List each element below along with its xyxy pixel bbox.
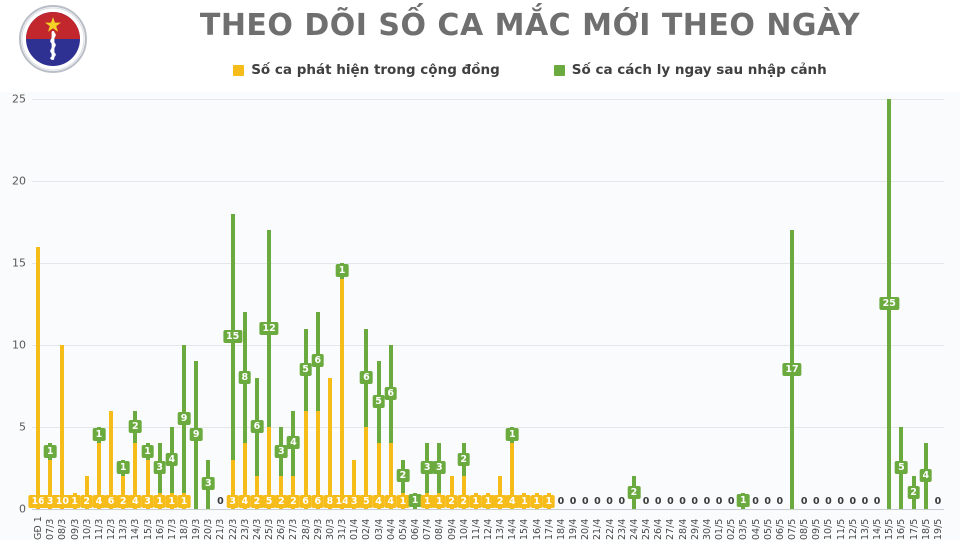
x-axis-tick: 24/3 — [252, 510, 263, 540]
x-axis-tick: 22/3 — [228, 510, 239, 540]
x-axis-tick: 18/4 — [556, 510, 567, 540]
x-axis-tick: 15/4 — [519, 510, 530, 540]
x-axis-tick: 11/3 — [94, 510, 105, 540]
x-axis-tick: 21/3 — [215, 510, 226, 540]
x-axis-tick: 15/5 — [884, 510, 895, 540]
x-axis-tick: 29/3 — [313, 510, 324, 540]
x-axis-tick: 08/4 — [434, 510, 445, 540]
x-axis-tick: 05/4 — [398, 510, 409, 540]
x-axis-tick: 30/3 — [325, 510, 336, 540]
x-axis-tick: 19/3 — [191, 510, 202, 540]
x-axis-tick: 01/4 — [349, 510, 360, 540]
x-axis-tick: 07/5 — [787, 510, 798, 540]
x-axis-tick: 29/4 — [690, 510, 701, 540]
x-axis-tick: 07/3 — [45, 510, 56, 540]
y-axis-tick-25: 25 — [12, 93, 26, 106]
x-axis-tick: 25/3 — [264, 510, 275, 540]
x-axis-tick: 12/4 — [483, 510, 494, 540]
x-axis-tick: 24/4 — [629, 510, 640, 540]
x-axis-tick: 23/4 — [617, 510, 628, 540]
x-axis-tick: 02/5 — [726, 510, 737, 540]
x-axis-tick: 03/4 — [374, 510, 385, 540]
x-axis-tick: GĐ 1 — [33, 510, 44, 540]
x-axis-tick: 04/5 — [751, 510, 762, 540]
x-axis-tick: 21/4 — [592, 510, 603, 540]
page-title: THEO DÕI SỐ CA MẮC MỚI THEO NGÀY — [120, 8, 940, 43]
x-axis-tick: 10/5 — [823, 510, 834, 540]
x-axis-tick: 28/3 — [301, 510, 312, 540]
chart-page: THEO DÕI SỐ CA MẮC MỚI THEO NGÀY Số ca p… — [0, 0, 960, 540]
x-axis-tick: 09/4 — [447, 510, 458, 540]
x-axis-tick: 02/4 — [361, 510, 372, 540]
x-axis-tick: 25/4 — [641, 510, 652, 540]
x-axis-tick: 31/3 — [337, 510, 348, 540]
x-axis-tick: 07/4 — [422, 510, 433, 540]
x-axis-tick: 17/5 — [909, 510, 920, 540]
y-axis-tick-5: 5 — [19, 421, 26, 434]
legend-item-community[interactable]: Số ca phát hiện trong cộng đồng — [233, 62, 500, 78]
chart-plot-area: 0510152025 16131012146122413314191930153… — [0, 92, 960, 540]
x-axis-tick: 26/3 — [276, 510, 287, 540]
legend-item-quarantine[interactable]: Số ca cách ly ngay sau nhập cảnh — [554, 62, 827, 78]
x-axis-tick: 09/3 — [70, 510, 81, 540]
y-axis-tick-0: 0 — [19, 503, 26, 516]
x-axis-tick: 12/3 — [106, 510, 117, 540]
y-axis: 0510152025 — [0, 92, 30, 540]
x-axis-tick: 16/5 — [896, 510, 907, 540]
x-axis-tick: 06/5 — [775, 510, 786, 540]
x-axis-tick: 11/5 — [836, 510, 847, 540]
x-axis-tick: 13/4 — [495, 510, 506, 540]
ministry-of-health-logo — [18, 4, 88, 74]
x-axis-tick: 19/4 — [568, 510, 579, 540]
x-axis-tick: 20/3 — [203, 510, 214, 540]
x-axis: GĐ 107/308/309/310/311/312/313/314/315/3… — [32, 92, 944, 540]
x-axis-tick: 12/5 — [848, 510, 859, 540]
x-axis-tick: 08/5 — [799, 510, 810, 540]
x-axis-tick: 13/5 — [860, 510, 871, 540]
x-axis-tick: 16/3 — [155, 510, 166, 540]
legend-swatch-quarantine — [554, 65, 565, 76]
x-axis-tick: 15/3 — [143, 510, 154, 540]
x-axis-tick: 18/3 — [179, 510, 190, 540]
x-axis-tick: 14/4 — [507, 510, 518, 540]
x-axis-tick: 23/3 — [240, 510, 251, 540]
x-axis-tick: 22/4 — [605, 510, 616, 540]
x-axis-tick: 13/3 — [118, 510, 129, 540]
x-axis-tick: 06/4 — [410, 510, 421, 540]
x-axis-tick: 04/4 — [386, 510, 397, 540]
x-axis-tick: 09/5 — [811, 510, 822, 540]
x-axis-tick: 26/4 — [653, 510, 664, 540]
x-axis-tick: 19/5 — [933, 510, 944, 540]
x-axis-tick: 28/4 — [678, 510, 689, 540]
legend-label-community: Số ca phát hiện trong cộng đồng — [251, 62, 500, 78]
x-axis-tick: 30/4 — [702, 510, 713, 540]
y-axis-tick-10: 10 — [12, 339, 26, 352]
x-axis-tick: 18/5 — [921, 510, 932, 540]
x-axis-tick: 17/4 — [544, 510, 555, 540]
x-axis-tick: 14/3 — [130, 510, 141, 540]
x-axis-tick: 08/3 — [57, 510, 68, 540]
x-axis-tick: 03/5 — [738, 510, 749, 540]
y-axis-tick-15: 15 — [12, 257, 26, 270]
x-axis-tick: 05/5 — [763, 510, 774, 540]
chart-header: THEO DÕI SỐ CA MẮC MỚI THEO NGÀY Số ca p… — [0, 0, 960, 92]
x-axis-tick: 14/5 — [872, 510, 883, 540]
legend-swatch-community — [233, 65, 244, 76]
chart-legend: Số ca phát hiện trong cộng đồng Số ca cá… — [120, 62, 940, 78]
x-axis-tick: 11/4 — [471, 510, 482, 540]
x-axis-tick: 16/4 — [532, 510, 543, 540]
x-axis-tick: 27/3 — [288, 510, 299, 540]
x-axis-tick: 27/4 — [665, 510, 676, 540]
x-axis-tick: 01/5 — [714, 510, 725, 540]
y-axis-tick-20: 20 — [12, 175, 26, 188]
x-axis-tick: 17/3 — [167, 510, 178, 540]
legend-label-quarantine: Số ca cách ly ngay sau nhập cảnh — [572, 62, 827, 78]
x-axis-tick: 10/3 — [82, 510, 93, 540]
x-axis-tick: 10/4 — [459, 510, 470, 540]
x-axis-tick: 20/4 — [580, 510, 591, 540]
